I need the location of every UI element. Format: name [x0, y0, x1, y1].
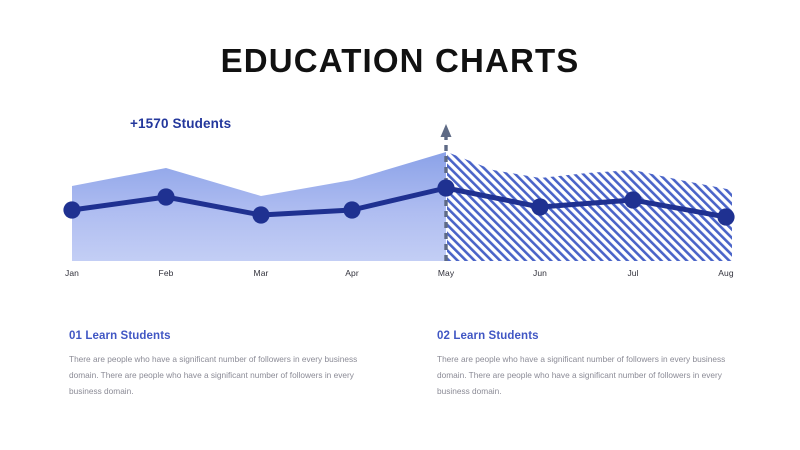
info-block-1-heading: 01 Learn Students: [69, 330, 369, 342]
axis-label-jul: Jul: [627, 268, 638, 278]
axis-label-jan: Jan: [65, 268, 79, 278]
chart-callout-label: +1570 Students: [130, 116, 231, 131]
data-point-feb[interactable]: [157, 188, 174, 205]
chart-svg: [0, 0, 800, 300]
info-block-2: 02 Learn Students There are people who h…: [437, 330, 737, 400]
axis-label-aug: Aug: [718, 268, 733, 278]
data-point-apr[interactable]: [343, 201, 360, 218]
axis-label-feb: Feb: [159, 268, 174, 278]
data-point-jun[interactable]: [531, 198, 548, 215]
data-point-jan[interactable]: [63, 201, 80, 218]
data-point-may[interactable]: [437, 179, 454, 196]
data-point-jul[interactable]: [624, 191, 641, 208]
education-chart: +1570 Students Jan Feb Mar Apr May Jun J…: [0, 0, 800, 300]
axis-label-jun: Jun: [533, 268, 547, 278]
data-point-mar[interactable]: [252, 206, 269, 223]
axis-label-mar: Mar: [254, 268, 269, 278]
area-actual: [72, 152, 446, 261]
info-block-1: 01 Learn Students There are people who h…: [69, 330, 369, 400]
data-point-aug[interactable]: [717, 208, 734, 225]
info-block-2-body: There are people who have a significant …: [437, 351, 733, 400]
info-block-2-heading: 02 Learn Students: [437, 330, 737, 342]
slide-canvas: EDUCATION CHARTS: [0, 0, 800, 450]
axis-label-apr: Apr: [345, 268, 358, 278]
area-forecast-hatched: [447, 152, 732, 261]
divider-arrow-head: [441, 124, 452, 137]
info-block-1-body: There are people who have a significant …: [69, 351, 365, 400]
axis-label-may: May: [438, 268, 454, 278]
